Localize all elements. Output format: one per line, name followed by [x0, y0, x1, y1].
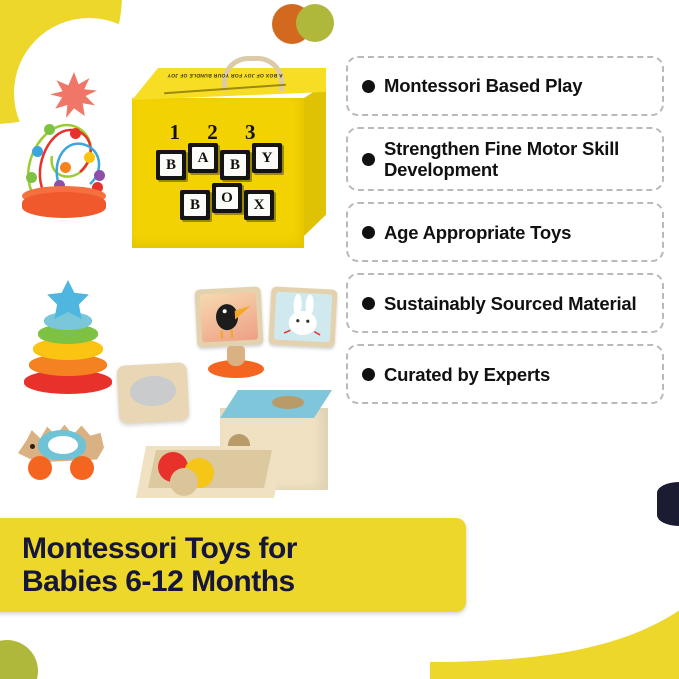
feature-item-fine-motor-skill[interactable]: Strengthen Fine Motor Skill Development: [346, 127, 664, 191]
book-rabbit-illustration: [274, 292, 332, 343]
feature-item-curated-by-experts[interactable]: Curated by Experts: [346, 344, 664, 404]
hedgehog-wheel: [70, 456, 94, 480]
block-letter: B: [160, 154, 182, 176]
headline-text: Montessori Toys for Babies 6-12 Months: [0, 532, 297, 598]
block-letter: O: [216, 187, 238, 209]
bead: [60, 162, 71, 173]
box-numbers-123: 1 2 3: [132, 120, 304, 145]
box-letter-blocks-baby: B A B Y: [156, 150, 282, 180]
product-photo-collage: A BOX OF JOY FOR YOUR BUNDLE OF JOY 1 2 …: [0, 48, 342, 518]
bead: [32, 146, 43, 157]
hedgehog-grip-hole: [48, 436, 78, 454]
stacker-star-top-icon: [45, 280, 91, 320]
permanence-box-hole: [272, 396, 304, 409]
book-page-right: [269, 286, 338, 347]
bead: [26, 172, 37, 183]
book-page-left: [195, 286, 264, 347]
bead-maze-toy: [8, 110, 116, 222]
feature-item-age-appropriate-toys[interactable]: Age Appropriate Toys: [346, 202, 664, 262]
bead: [44, 124, 55, 135]
bead: [84, 152, 95, 163]
block-letter: X: [248, 194, 270, 216]
decorative-dot-olive: [296, 4, 334, 42]
feature-list: Montessori Based Play Strengthen Fine Mo…: [346, 56, 664, 415]
box-side-panel: [304, 84, 326, 236]
headline-line-2: Babies 6-12 Months: [22, 565, 297, 598]
block-letter: A: [192, 147, 214, 169]
feature-item-sustainably-sourced[interactable]: Sustainably Sourced Material: [346, 273, 664, 333]
hedgehog-push-toy: [12, 416, 112, 486]
bullet-icon: [362, 368, 375, 381]
feature-label: Montessori Based Play: [384, 75, 582, 96]
bullet-icon: [362, 297, 375, 310]
spinning-top-knob: [227, 346, 245, 366]
decorative-halfcircle-navy: [657, 482, 679, 526]
bead: [70, 128, 81, 139]
headline-line-1: Montessori Toys for: [22, 532, 297, 565]
box-lid-text: A BOX OF JOY FOR YOUR BUNDLE OF JOY: [162, 72, 288, 78]
bullet-icon: [362, 226, 375, 239]
feature-label: Age Appropriate Toys: [384, 222, 571, 243]
bead-maze-base: [22, 192, 106, 218]
wooden-ball-natural: [170, 468, 198, 496]
bullet-icon: [362, 153, 375, 166]
spinning-top-toy: [208, 346, 264, 378]
baby-box-carton: A BOX OF JOY FOR YOUR BUNDLE OF JOY 1 2 …: [118, 60, 328, 256]
decorative-dot-olive-bottom: [0, 640, 38, 679]
book-toucan-illustration: [200, 292, 258, 343]
bullet-icon: [362, 80, 375, 93]
feature-label: Curated by Experts: [384, 364, 550, 385]
block-letter: Y: [256, 147, 278, 169]
block-letter: B: [224, 154, 246, 176]
box-letter-blocks-box: B O X: [180, 190, 274, 220]
bead: [94, 170, 105, 181]
object-permanence-box: [136, 386, 332, 512]
feature-item-montessori-based-play[interactable]: Montessori Based Play: [346, 56, 664, 116]
corner-yellow-swoosh: [430, 560, 679, 679]
hedgehog-eye: [30, 444, 35, 449]
wooden-picture-book: [196, 288, 340, 352]
feature-label: Sustainably Sourced Material: [384, 293, 636, 314]
product-marketing-image: A BOX OF JOY FOR YOUR BUNDLE OF JOY 1 2 …: [0, 0, 679, 679]
headline-banner: Montessori Toys for Babies 6-12 Months: [0, 518, 466, 612]
feature-label: Strengthen Fine Motor Skill Development: [384, 138, 648, 180]
ring-stacker-toy: [22, 284, 114, 394]
hedgehog-wheel: [28, 456, 52, 480]
block-letter: B: [184, 194, 206, 216]
